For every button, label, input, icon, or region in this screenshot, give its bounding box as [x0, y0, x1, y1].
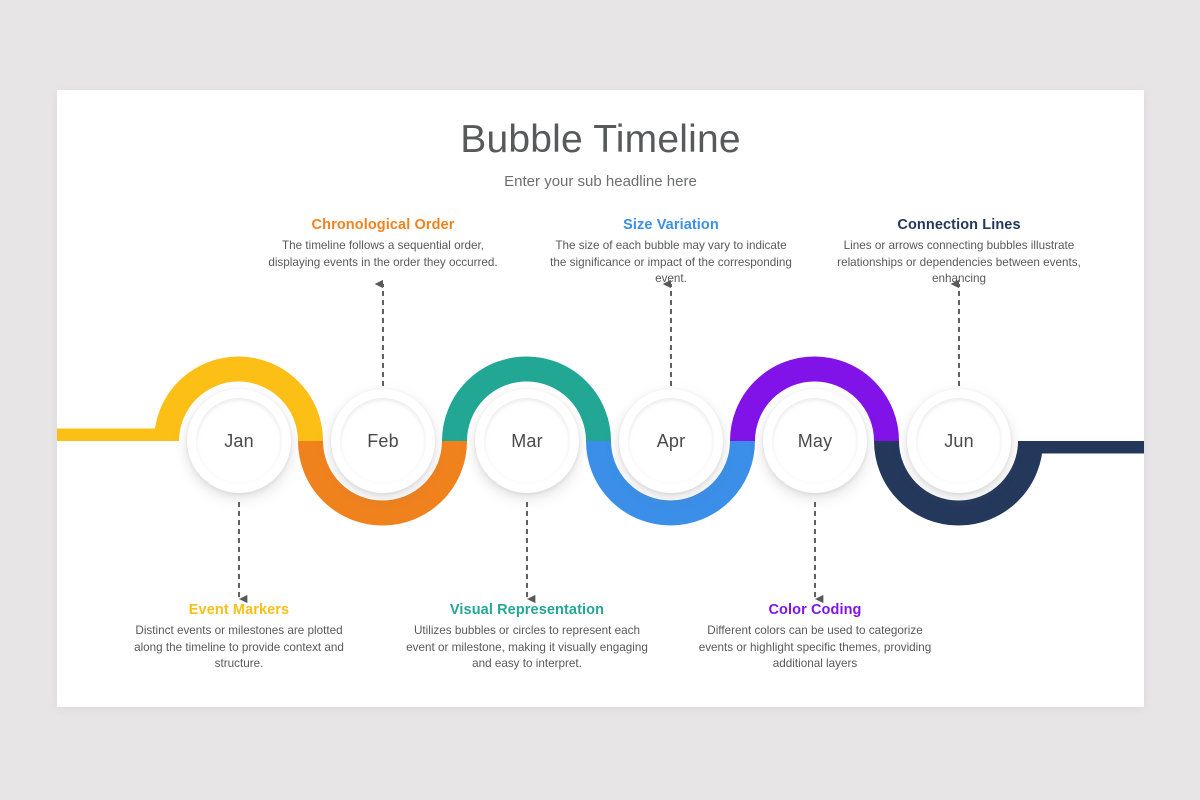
timeline-bubble-jan[interactable]: Jan: [187, 389, 291, 493]
info-title: Event Markers: [121, 602, 357, 618]
slide-card: Bubble Timeline Enter your sub headline …: [57, 90, 1144, 707]
timeline-bubble-feb[interactable]: Feb: [331, 389, 435, 493]
info-block-connection-lines: Connection Lines Lines or arrows connect…: [837, 217, 1081, 288]
page-title: Bubble Timeline: [57, 118, 1144, 162]
info-block-size-variation: Size Variation The size of each bubble m…: [549, 217, 793, 288]
info-title: Chronological Order: [265, 217, 501, 233]
info-body: Different colors can be used to categori…: [697, 623, 933, 673]
timeline-bubble-jun[interactable]: Jun: [907, 389, 1011, 493]
info-body: The size of each bubble may vary to indi…: [549, 238, 793, 288]
timeline-bubble-apr[interactable]: Apr: [619, 389, 723, 493]
info-body: Utilizes bubbles or circles to represent…: [405, 623, 649, 673]
info-body: Distinct events or milestones are plotte…: [121, 623, 357, 673]
info-body: The timeline follows a sequential order,…: [265, 238, 501, 271]
info-block-event-markers: Event Markers Distinct events or milesto…: [121, 602, 357, 673]
info-title: Size Variation: [549, 217, 793, 233]
bubble-label: Jan: [224, 431, 254, 452]
slide-stage: Bubble Timeline Enter your sub headline …: [0, 0, 1200, 800]
timeline-bubble-mar[interactable]: Mar: [475, 389, 579, 493]
bubble-label: Feb: [367, 431, 399, 452]
info-title: Visual Representation: [405, 602, 649, 618]
info-title: Color Coding: [697, 602, 933, 618]
info-title: Connection Lines: [837, 217, 1081, 233]
info-body: Lines or arrows connecting bubbles illus…: [837, 238, 1081, 288]
timeline-bubble-may[interactable]: May: [763, 389, 867, 493]
info-block-color-coding: Color Coding Different colors can be use…: [697, 602, 933, 673]
bubble-label: May: [798, 431, 833, 452]
bubble-label: Jun: [944, 431, 974, 452]
info-block-chronological-order: Chronological Order The timeline follows…: [265, 217, 501, 271]
bubble-label: Apr: [657, 431, 686, 452]
page-subtitle: Enter your sub headline here: [57, 173, 1144, 190]
bubble-label: Mar: [511, 431, 543, 452]
info-block-visual-representation: Visual Representation Utilizes bubbles o…: [405, 602, 649, 673]
